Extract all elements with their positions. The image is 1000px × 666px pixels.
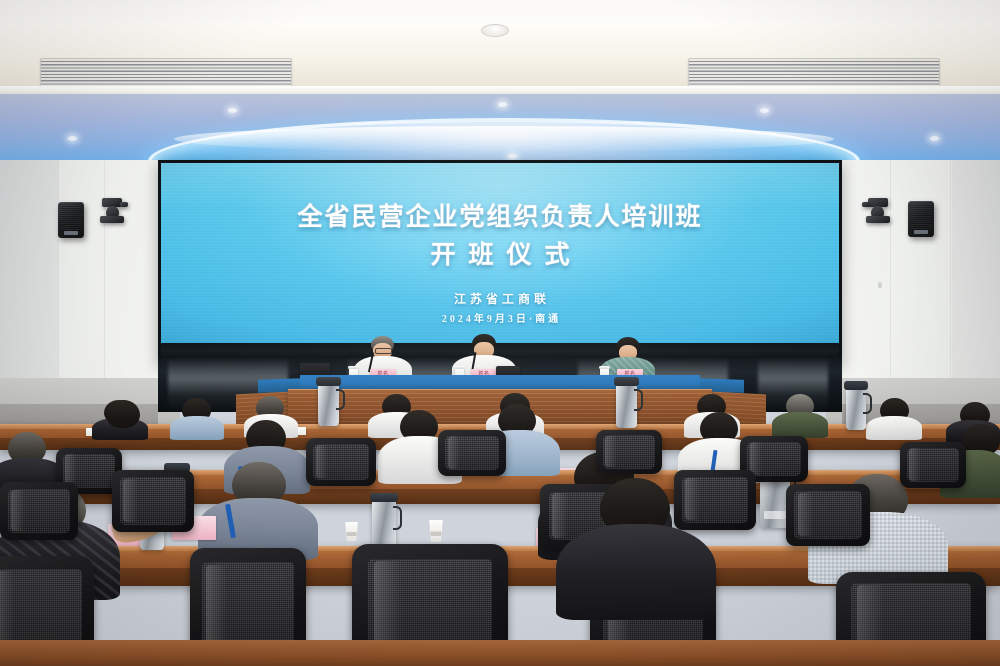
mug-lid bbox=[454, 366, 465, 369]
chair-highlight bbox=[798, 493, 813, 536]
thermos-handle bbox=[393, 506, 402, 530]
audience-torso bbox=[170, 416, 224, 440]
thermos-lid bbox=[370, 493, 398, 502]
thermos-flask bbox=[318, 384, 339, 426]
mug-lid bbox=[348, 366, 359, 369]
thermos-flask bbox=[846, 388, 866, 430]
camera-arm bbox=[120, 202, 128, 207]
wall-speaker-left bbox=[58, 202, 84, 238]
audience-torso bbox=[866, 416, 922, 440]
oval-sheen bbox=[174, 126, 834, 152]
chair-back[interactable] bbox=[596, 430, 662, 474]
camera-rig-right bbox=[860, 198, 890, 228]
wall-seam bbox=[58, 160, 59, 410]
ceiling-spot-icon bbox=[498, 102, 507, 107]
wall-sensor-icon bbox=[878, 282, 882, 288]
paper-cup bbox=[344, 522, 359, 541]
thermos-flask bbox=[616, 384, 637, 428]
cup-band bbox=[346, 532, 357, 536]
speaker-grill bbox=[61, 205, 82, 231]
led-screen: 全省民营企业党组织负责人培训班 开班仪式 江苏省工商联 2024年9月3日·南通 bbox=[161, 163, 839, 343]
chair-back[interactable] bbox=[786, 484, 870, 546]
paper-cup bbox=[428, 520, 444, 542]
chair-highlight bbox=[316, 445, 329, 479]
floor bbox=[0, 640, 1000, 666]
camera-rig-left bbox=[100, 198, 130, 228]
microphone-head-icon bbox=[365, 350, 370, 355]
glasses-icon bbox=[375, 348, 392, 354]
ceiling-spot-icon bbox=[68, 136, 77, 141]
screen-scanlines bbox=[161, 163, 839, 343]
left-wall-far-panel bbox=[0, 160, 58, 410]
camera-arm bbox=[862, 202, 870, 207]
camera-base bbox=[100, 216, 124, 223]
thermos-lid bbox=[316, 377, 341, 386]
right-wall-far-panel bbox=[952, 160, 1000, 410]
wall-speaker-right bbox=[908, 201, 934, 237]
chair-highlight bbox=[123, 479, 138, 522]
audience-torso bbox=[772, 412, 828, 438]
speaker-badge bbox=[64, 231, 78, 235]
chair-back[interactable] bbox=[674, 470, 756, 530]
ceiling-spot-icon bbox=[228, 108, 237, 113]
air-vent-left bbox=[40, 58, 292, 88]
chair-highlight bbox=[206, 565, 227, 648]
chair-highlight bbox=[11, 490, 25, 531]
thermos-label bbox=[764, 511, 787, 519]
audience-torso-foreground bbox=[556, 524, 716, 620]
ceiling-spot-icon bbox=[760, 108, 769, 113]
speaker-badge bbox=[914, 230, 928, 234]
speaker-grill bbox=[911, 204, 932, 230]
thermos-handle bbox=[634, 389, 643, 411]
microphone-head-icon bbox=[468, 350, 473, 355]
camera-base bbox=[866, 216, 890, 223]
chair-back[interactable] bbox=[900, 442, 966, 488]
chair-highlight bbox=[374, 561, 402, 646]
chair-highlight bbox=[448, 436, 460, 468]
audience-head bbox=[106, 400, 140, 428]
chair-highlight bbox=[909, 448, 921, 480]
chair-back[interactable] bbox=[438, 430, 506, 476]
chair-back[interactable] bbox=[112, 470, 194, 532]
thermos-handle bbox=[863, 393, 872, 414]
chair-back[interactable] bbox=[306, 438, 376, 486]
conference-hall-photo: 全省民营企业党组织负责人培训班 开班仪式 江苏省工商联 2024年9月3日·南通… bbox=[0, 0, 1000, 666]
cup-band bbox=[430, 531, 442, 536]
thermos-handle bbox=[336, 389, 345, 410]
wall-seam bbox=[890, 160, 891, 410]
chair-highlight bbox=[552, 493, 568, 538]
ceiling-spot-icon bbox=[508, 154, 517, 159]
air-vent-right bbox=[688, 58, 940, 88]
chair-back[interactable] bbox=[0, 482, 78, 540]
thermos-lid bbox=[614, 377, 639, 386]
thermos-flask bbox=[372, 500, 396, 550]
chair-highlight bbox=[685, 478, 700, 520]
mug-lid bbox=[599, 366, 610, 369]
ceiling-spot-icon bbox=[930, 136, 939, 141]
wall-seam bbox=[950, 160, 951, 410]
chair-highlight bbox=[0, 571, 14, 648]
smoke-detector-icon bbox=[481, 24, 509, 37]
chair-highlight bbox=[605, 436, 617, 467]
thermos-lid bbox=[844, 381, 868, 390]
chair-highlight bbox=[750, 442, 762, 474]
